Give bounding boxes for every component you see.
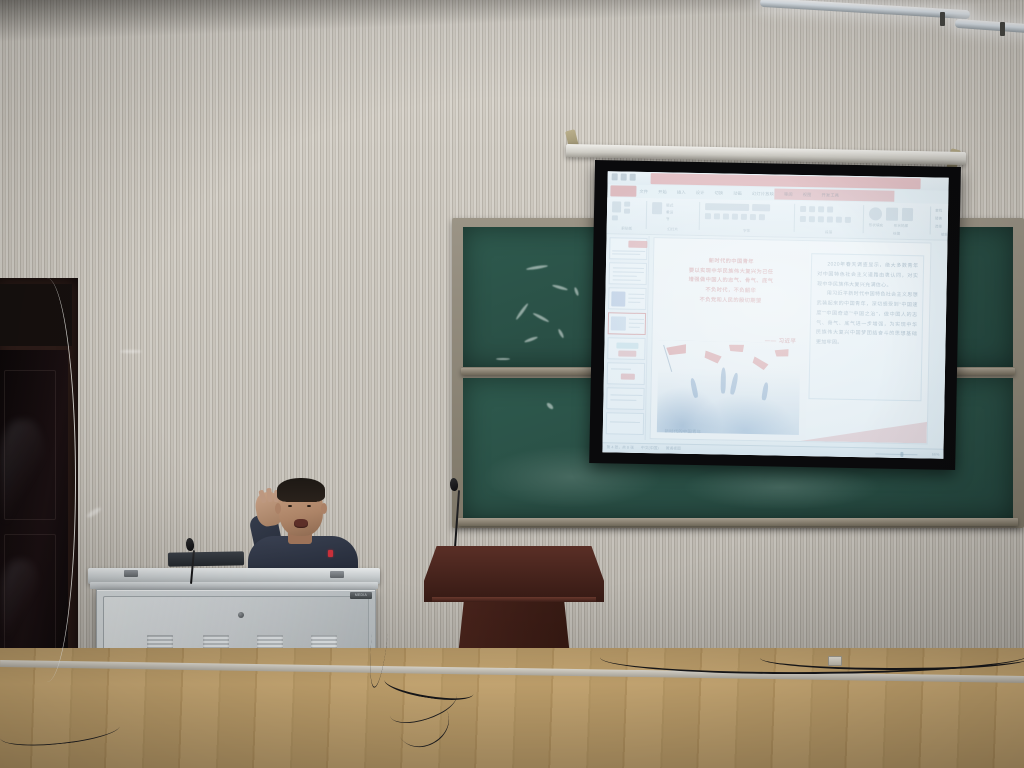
font-color-icon[interactable]	[732, 214, 738, 220]
laptop-lid[interactable]	[168, 551, 244, 566]
quote-line: 不负党和人民的殷切期望	[663, 295, 799, 307]
console-hinge	[124, 570, 138, 577]
ribbon-group-label: 段落	[798, 230, 860, 236]
text-direction-icon[interactable]	[845, 217, 851, 223]
tab-developer[interactable]: 开发工具	[822, 192, 840, 198]
slide-footer-text: 新时代的中国青年	[665, 428, 702, 435]
slide-paragraph: 2020年春天调查显示，绝大多数青年对中国特色社会主义道路由衷认同，对实现中华民…	[817, 260, 919, 291]
paste-icon[interactable]	[612, 201, 621, 212]
zoom-slider[interactable]	[875, 453, 917, 455]
chalk-smudge	[682, 464, 882, 510]
numbering-icon[interactable]	[809, 206, 815, 212]
flag-icon	[666, 342, 688, 358]
ribbon-group-slides[interactable]: 版式 重设 节 幻灯片	[650, 200, 697, 232]
tab-transitions[interactable]: 切换	[714, 190, 723, 196]
light-bracket-icon	[940, 12, 945, 26]
redo-icon[interactable]	[630, 174, 636, 181]
tab-view[interactable]: 视图	[803, 192, 812, 198]
podium-desktop	[424, 546, 604, 602]
quick-styles-icon[interactable]	[902, 208, 913, 221]
ppt-workspace: 新时代的中国青年 要以实现中华民族伟大复兴为己任 增强做中国人的志气、骨气、底气…	[602, 234, 947, 459]
console-hinge	[330, 571, 344, 578]
arrange-icon[interactable]	[886, 208, 898, 221]
underline-icon[interactable]	[723, 213, 729, 219]
slide-thumbnail[interactable]	[606, 387, 644, 410]
shape-outline-label[interactable]: 形状轮廓	[894, 224, 908, 229]
clear-format-icon[interactable]	[759, 214, 765, 220]
ear	[321, 503, 327, 514]
slide-thumbnail[interactable]	[608, 287, 646, 310]
slide-thumbnail[interactable]	[609, 237, 647, 260]
ribbon-separator	[699, 202, 701, 230]
ribbon-separator	[863, 205, 865, 233]
ribbon-group-label: 字体	[703, 228, 791, 235]
raised-arm-shape	[762, 383, 770, 402]
ribbon-group-label: 幻灯片	[650, 227, 696, 233]
slide-body-textbox: 2020年春天调查显示，绝大多数青年对中国特色社会主义道路由衷认同，对实现中华民…	[809, 253, 925, 401]
raised-arm-shape	[730, 373, 740, 396]
reset-label[interactable]: 重设	[666, 210, 673, 215]
console-brand-plate: MEDIA	[350, 592, 372, 599]
tab-design[interactable]: 设计	[696, 190, 705, 196]
find-label[interactable]: 查找	[935, 209, 942, 214]
tab-insert[interactable]: 插入	[677, 190, 686, 196]
slide-thumbnail-selected[interactable]	[608, 312, 646, 335]
indent-icon[interactable]	[818, 206, 824, 212]
console-worktop-lip	[90, 582, 378, 589]
tab-home[interactable]: 开始	[658, 189, 667, 195]
light-bracket-icon	[1000, 22, 1005, 36]
tab-file[interactable]: 文件	[639, 189, 648, 195]
mouth	[294, 519, 308, 528]
slide-paragraph: 用习近平新时代中国特色社会主义思想武装起来的中国青年，深切感受到“中国速度”“中…	[816, 290, 918, 350]
flag-icon	[774, 347, 790, 359]
slide-thumbnail[interactable]	[607, 337, 645, 360]
align-center-icon[interactable]	[809, 216, 815, 222]
ribbon-group-clipboard[interactable]: 剪贴板	[610, 199, 645, 231]
wall-cable	[18, 278, 76, 682]
ppt-file-menu-button[interactable]	[610, 185, 636, 196]
floor-cable	[760, 646, 1024, 670]
align-left-icon[interactable]	[800, 216, 806, 222]
ribbon-separator	[930, 206, 932, 234]
quick-access-toolbar[interactable]	[612, 173, 636, 180]
slide-left-column: 新时代的中国青年 要以实现中华民族伟大复兴为己任 增强做中国人的志气、骨气、底气…	[651, 238, 809, 441]
font-size-box[interactable]	[752, 204, 770, 211]
italic-icon[interactable]	[714, 213, 720, 219]
tab-animations[interactable]: 动画	[733, 191, 742, 197]
select-label[interactable]: 选择	[935, 225, 942, 230]
zoom-slider-handle[interactable]	[900, 452, 903, 457]
justify-icon[interactable]	[827, 216, 833, 222]
raised-arm-shape	[690, 377, 699, 398]
wall-scuff	[120, 350, 142, 353]
ribbon-group-label: 剪贴板	[610, 226, 644, 232]
tab-slideshow[interactable]: 幻灯片放映	[752, 191, 774, 197]
align-right-icon[interactable]	[818, 216, 824, 222]
text-shadow-icon[interactable]	[741, 214, 747, 220]
columns-icon[interactable]	[836, 217, 842, 223]
flag-icon	[729, 343, 745, 354]
flag-icon	[751, 356, 769, 371]
ear	[275, 503, 281, 514]
view-mode-label[interactable]: 普通视图	[666, 446, 681, 451]
ppt-title-accent	[651, 173, 921, 189]
slide-canvas[interactable]: 新时代的中国青年 要以实现中华民族伟大复兴为己任 增强做中国人的志气、骨气、底气…	[650, 237, 932, 444]
shapes-icon[interactable]	[869, 207, 882, 220]
ribbon-separator	[646, 201, 648, 229]
lapel-pin	[328, 550, 333, 557]
ribbon-group-paragraph[interactable]: 段落	[798, 203, 861, 235]
shape-fill-label[interactable]: 形状填充	[869, 223, 883, 228]
eye	[307, 505, 311, 507]
slide-crowd-illustration	[657, 340, 801, 435]
ribbon-separator	[794, 204, 796, 232]
new-slide-icon[interactable]	[652, 202, 662, 214]
slide-thumbnail[interactable]	[609, 262, 647, 285]
hair	[277, 478, 325, 502]
podium-front-edge	[432, 597, 596, 602]
slide-thumbnail-panel[interactable]	[605, 235, 650, 440]
char-spacing-icon[interactable]	[750, 214, 756, 220]
format-painter-icon[interactable]	[612, 215, 618, 220]
projection-surface: 文件 开始 插入 设计 切换 动画 幻灯片放映 审阅 视图 开发工具	[602, 171, 948, 458]
copy-icon[interactable]	[624, 209, 630, 214]
cut-icon[interactable]	[624, 202, 630, 207]
slide-quote-block: 新时代的中国青年 要以实现中华民族伟大复兴为己任 增强做中国人的志气、骨气、底气…	[663, 256, 800, 307]
lecture-hall-scene: 文件 开始 插入 设计 切换 动画 幻灯片放映 审阅 视图 开发工具	[0, 0, 1024, 768]
tab-review[interactable]: 审阅	[784, 192, 793, 198]
slide-thumbnail[interactable]	[607, 362, 645, 385]
blackboard-chalk-tray	[458, 518, 1018, 526]
slide-thumbnail[interactable]	[606, 412, 644, 435]
chalk-mark	[496, 358, 510, 360]
projected-powerpoint-app: 文件 开始 插入 设计 切换 动画 幻灯片放映 审阅 视图 开发工具	[602, 171, 948, 458]
font-name-box[interactable]	[705, 203, 749, 211]
layout-label[interactable]: 版式	[666, 203, 673, 208]
flag-icon	[703, 351, 722, 365]
ribbon-group-font[interactable]: 字体	[703, 201, 792, 234]
eyebrow	[304, 500, 317, 502]
projection-screen: 文件 开始 插入 设计 切换 动画 幻灯片放映 审阅 视图 开发工具	[589, 160, 961, 470]
ribbon-group-label: 编辑	[934, 233, 949, 238]
line-spacing-icon[interactable]	[827, 206, 833, 212]
slide-indicator: 第 4 张，共 8 张	[606, 445, 634, 451]
eyebrow	[286, 500, 299, 502]
ribbon-group-drawing[interactable]: 形状填充 形状轮廓 绘图	[867, 204, 928, 236]
cabinet-lock-icon[interactable]	[238, 612, 244, 618]
undo-icon[interactable]	[621, 173, 627, 180]
replace-label[interactable]: 替换	[935, 217, 942, 222]
save-icon[interactable]	[612, 173, 618, 180]
eye	[288, 505, 292, 507]
section-label[interactable]: 节	[666, 217, 670, 222]
bullets-icon[interactable]	[800, 206, 806, 212]
raised-arm-shape	[720, 367, 725, 393]
bold-icon[interactable]	[705, 213, 711, 219]
ribbon-group-label: 绘图	[867, 231, 927, 237]
finger	[266, 488, 273, 503]
ribbon-group-editing[interactable]: 查找 替换 选择 编辑	[934, 206, 949, 237]
console-brand-text: MEDIA	[350, 592, 372, 599]
language-indicator[interactable]: 中文(中国)	[641, 446, 659, 451]
zoom-level-label[interactable]: 66%	[932, 452, 940, 456]
